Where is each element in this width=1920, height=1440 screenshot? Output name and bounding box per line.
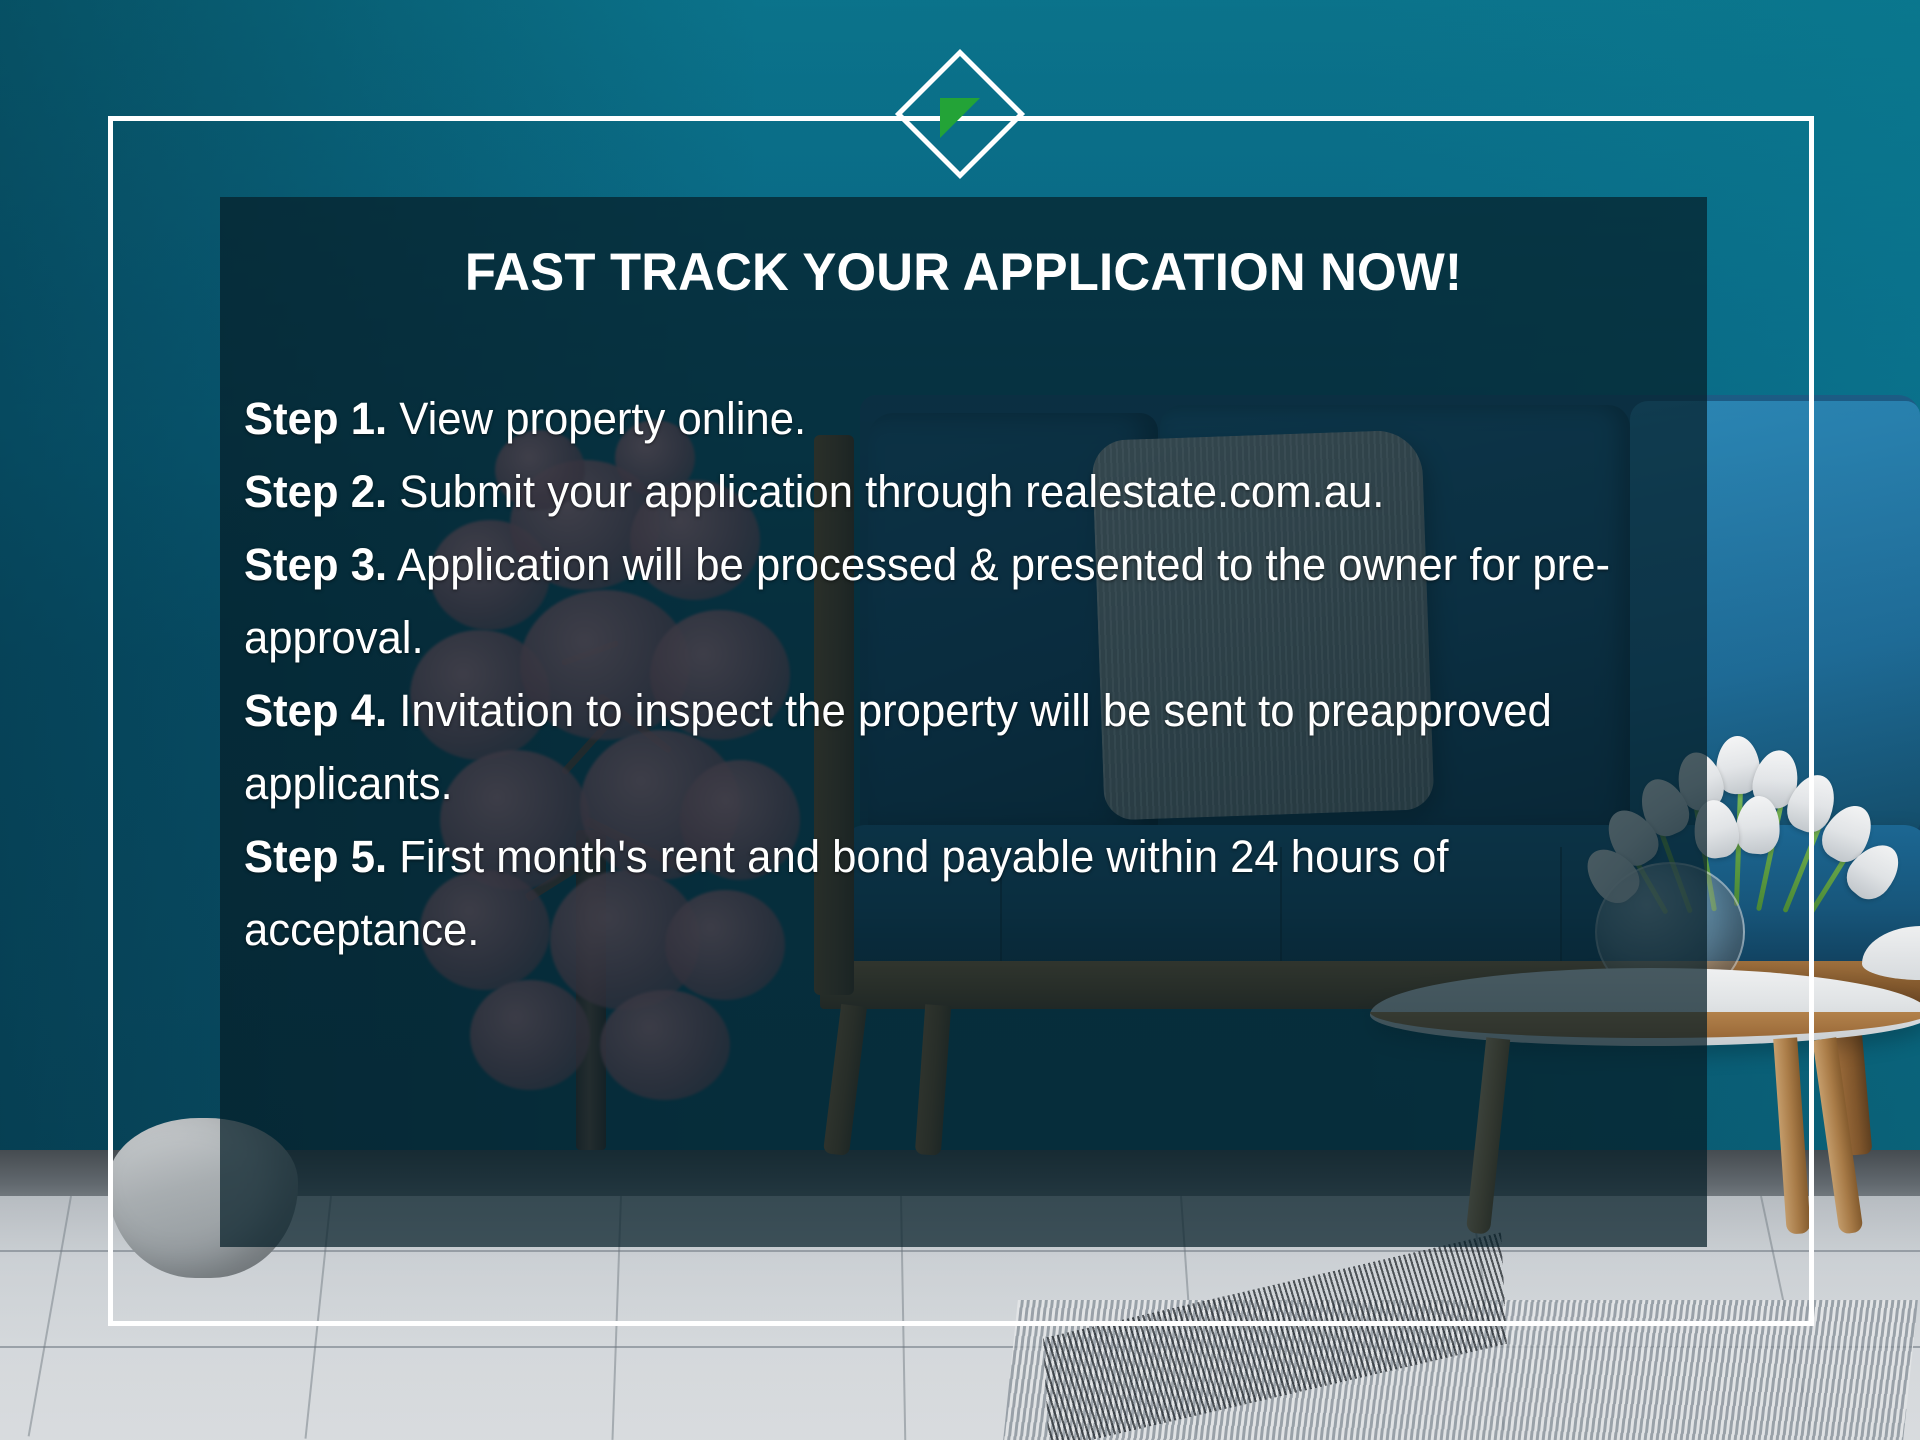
step-label: Step 3.	[244, 539, 387, 590]
page-title: FAST TRACK YOUR APPLICATION NOW!	[250, 243, 1678, 304]
list-item: Step 3. Application will be processed & …	[244, 528, 1653, 674]
step-label: Step 2.	[244, 466, 387, 517]
step-text: Application will be processed & presente…	[244, 539, 1610, 663]
step-label: Step 5.	[244, 831, 387, 882]
step-label: Step 4.	[244, 685, 387, 736]
poster-content: FAST TRACK YOUR APPLICATION NOW! Step 1.…	[220, 197, 1707, 1247]
list-item: Step 1. View property online.	[244, 382, 1653, 455]
list-item: Step 4. Invitation to inspect the proper…	[244, 674, 1653, 820]
green-triangle-icon	[940, 98, 980, 138]
step-text: View property online.	[399, 393, 806, 444]
step-label: Step 1.	[244, 393, 387, 444]
step-text: Submit your application through realesta…	[399, 466, 1384, 517]
poster-canvas: FAST TRACK YOUR APPLICATION NOW! Step 1.…	[0, 0, 1920, 1440]
diamond-logo-icon	[896, 50, 1024, 178]
list-item: Step 2. Submit your application through …	[244, 455, 1653, 528]
list-item: Step 5. First month's rent and bond paya…	[244, 820, 1653, 966]
step-text: Invitation to inspect the property will …	[244, 685, 1552, 809]
steps-list: Step 1. View property online. Step 2. Su…	[220, 382, 1707, 966]
step-text: First month's rent and bond payable with…	[244, 831, 1449, 955]
